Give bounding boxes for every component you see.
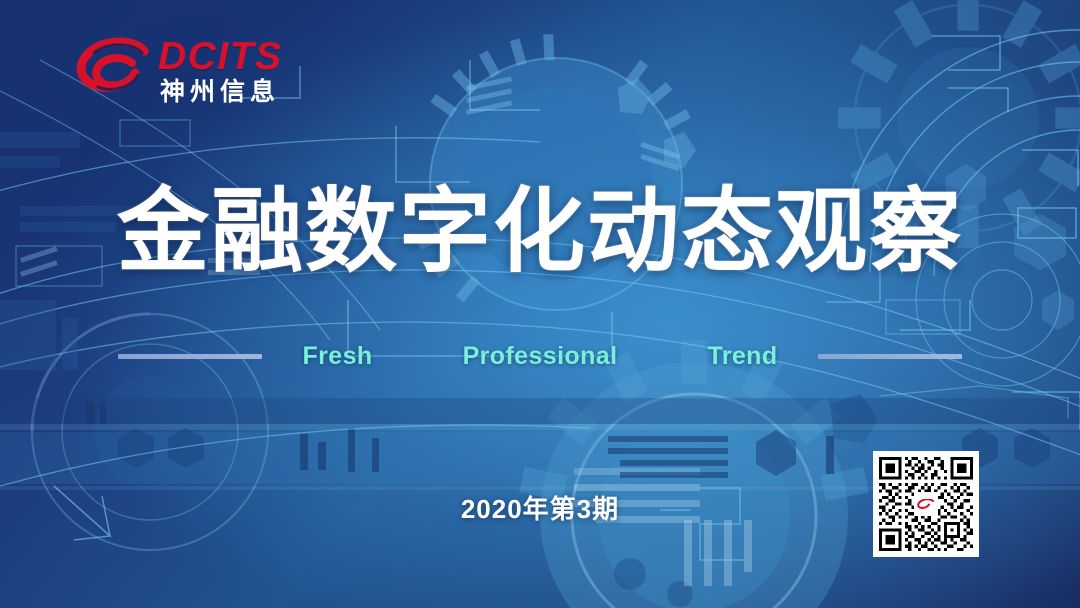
- dcits-logo: DCITS 神州信息: [72, 33, 322, 109]
- tagline-rule-right: [818, 354, 962, 359]
- dcits-mini-logo-icon: [914, 492, 938, 516]
- band-stripes: [608, 436, 728, 478]
- dcits-chinese-name: 神州信息: [160, 80, 280, 105]
- tagline-words: Fresh Professional Trend: [302, 342, 777, 371]
- page-title: 金融数字化动态观察: [0, 186, 1080, 278]
- cover-slide: DCITS 神州信息 金融数字化动态观察 Fresh Professional …: [0, 0, 1080, 608]
- tagline-word-trend: Trend: [707, 342, 777, 371]
- band-bars: [86, 402, 834, 474]
- dcits-wordmark: DCITS: [158, 37, 283, 76]
- gear-shape-bottom: [519, 340, 878, 608]
- tagline-row: Fresh Professional Trend: [0, 338, 1080, 374]
- qr-code[interactable]: [873, 451, 979, 557]
- circuit-traces-center: [240, 60, 880, 560]
- tagline-rule-left: [118, 354, 262, 359]
- dcits-swoosh-icon: [72, 35, 154, 103]
- tagline-word-professional: Professional: [463, 342, 618, 371]
- tagline-word-fresh: Fresh: [302, 342, 372, 371]
